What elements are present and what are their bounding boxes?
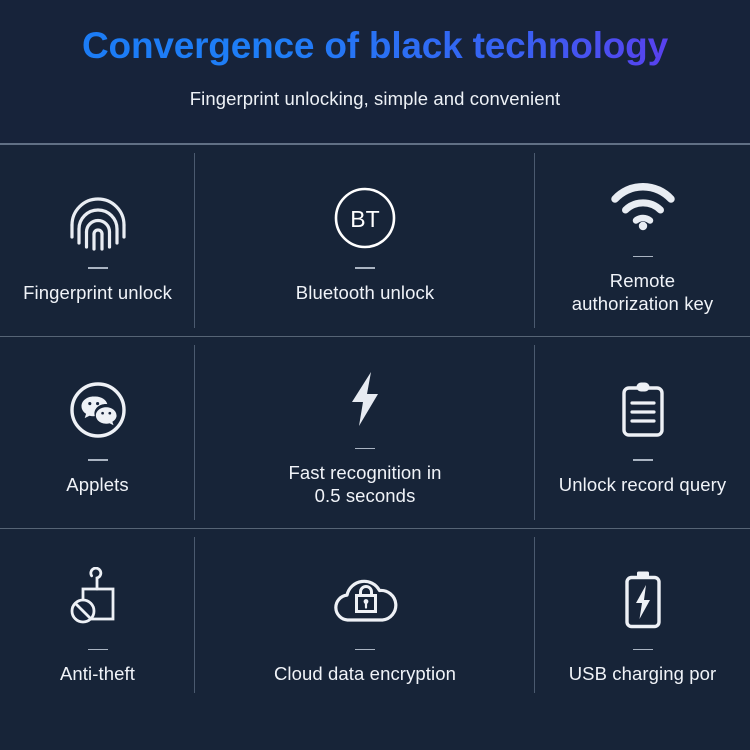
label-dash [355, 267, 375, 269]
feature-label-line1: Unlock record query [559, 474, 726, 495]
feature-label: Fast recognition in 0.5 seconds [288, 461, 441, 507]
feature-label-line2: authorization key [572, 292, 714, 315]
feature-cell-bluetooth-unlock[interactable]: BT Bluetooth unlock [195, 145, 535, 337]
clipboard-icon [619, 369, 667, 451]
lightning-bolt-icon [346, 358, 384, 440]
feature-label-line1: Fast recognition in [288, 462, 441, 483]
feature-cell-usb-charging-port[interactable]: USB charging por [535, 529, 750, 715]
cloud-lock-icon [330, 559, 400, 641]
poster-header: Convergence of black technology Fingerpr… [0, 0, 750, 144]
battery-charging-icon [621, 559, 665, 641]
bluetooth-bt-circle-icon: BT [333, 177, 397, 259]
label-dash [88, 267, 108, 269]
page-title: Convergence of black technology [0, 25, 750, 67]
feature-label-line1: Fingerprint unlock [23, 282, 172, 303]
feature-label-line1: Applets [66, 474, 128, 495]
fingerprint-icon [68, 177, 128, 259]
feature-label-line1: Bluetooth unlock [296, 282, 434, 303]
feature-label-line2: 0.5 seconds [288, 484, 441, 507]
feature-poster: Convergence of black technology Fingerpr… [0, 0, 750, 750]
feature-cell-unlock-record-query[interactable]: Unlock record query [535, 337, 750, 529]
feature-cell-fast-recognition[interactable]: Fast recognition in 0.5 seconds [195, 337, 535, 529]
feature-label-line1: Cloud data encryption [274, 663, 456, 684]
feature-label: Applets [66, 473, 128, 496]
feature-label-line1: Anti-theft [60, 663, 135, 684]
feature-label: Unlock record query [559, 473, 726, 496]
feature-grid: Fingerprint unlock BT Bluetooth unlock [0, 145, 750, 750]
label-dash [633, 459, 653, 461]
feature-label-line1: Remote [610, 270, 675, 291]
feature-cell-cloud-data-encryption[interactable]: Cloud data encryption [195, 529, 535, 715]
bluetooth-icon-text: BT [350, 206, 379, 232]
feature-cell-fingerprint-unlock[interactable]: Fingerprint unlock [0, 145, 195, 337]
feature-label: USB charging por [569, 662, 717, 685]
feature-label: Anti-theft [60, 662, 135, 685]
label-dash [88, 649, 108, 651]
label-dash [633, 256, 653, 258]
feature-cell-remote-authorization-key[interactable]: Remote authorization key [535, 145, 750, 337]
feature-label: Remote authorization key [572, 269, 714, 315]
wifi-icon [610, 166, 676, 248]
label-dash [88, 459, 108, 461]
label-dash [633, 649, 653, 651]
label-dash [355, 448, 375, 450]
page-subtitle: Fingerprint unlocking, simple and conven… [0, 88, 750, 110]
feature-cell-applets[interactable]: Applets [0, 337, 195, 529]
feature-cell-anti-theft[interactable]: Anti-theft [0, 529, 195, 715]
feature-label: Fingerprint unlock [23, 281, 172, 304]
anti-theft-icon [70, 559, 126, 641]
feature-label: Cloud data encryption [274, 662, 456, 685]
label-dash [355, 649, 375, 651]
feature-label-line1: USB charging por [569, 663, 717, 684]
wechat-applets-icon [69, 369, 127, 451]
feature-label: Bluetooth unlock [296, 281, 434, 304]
